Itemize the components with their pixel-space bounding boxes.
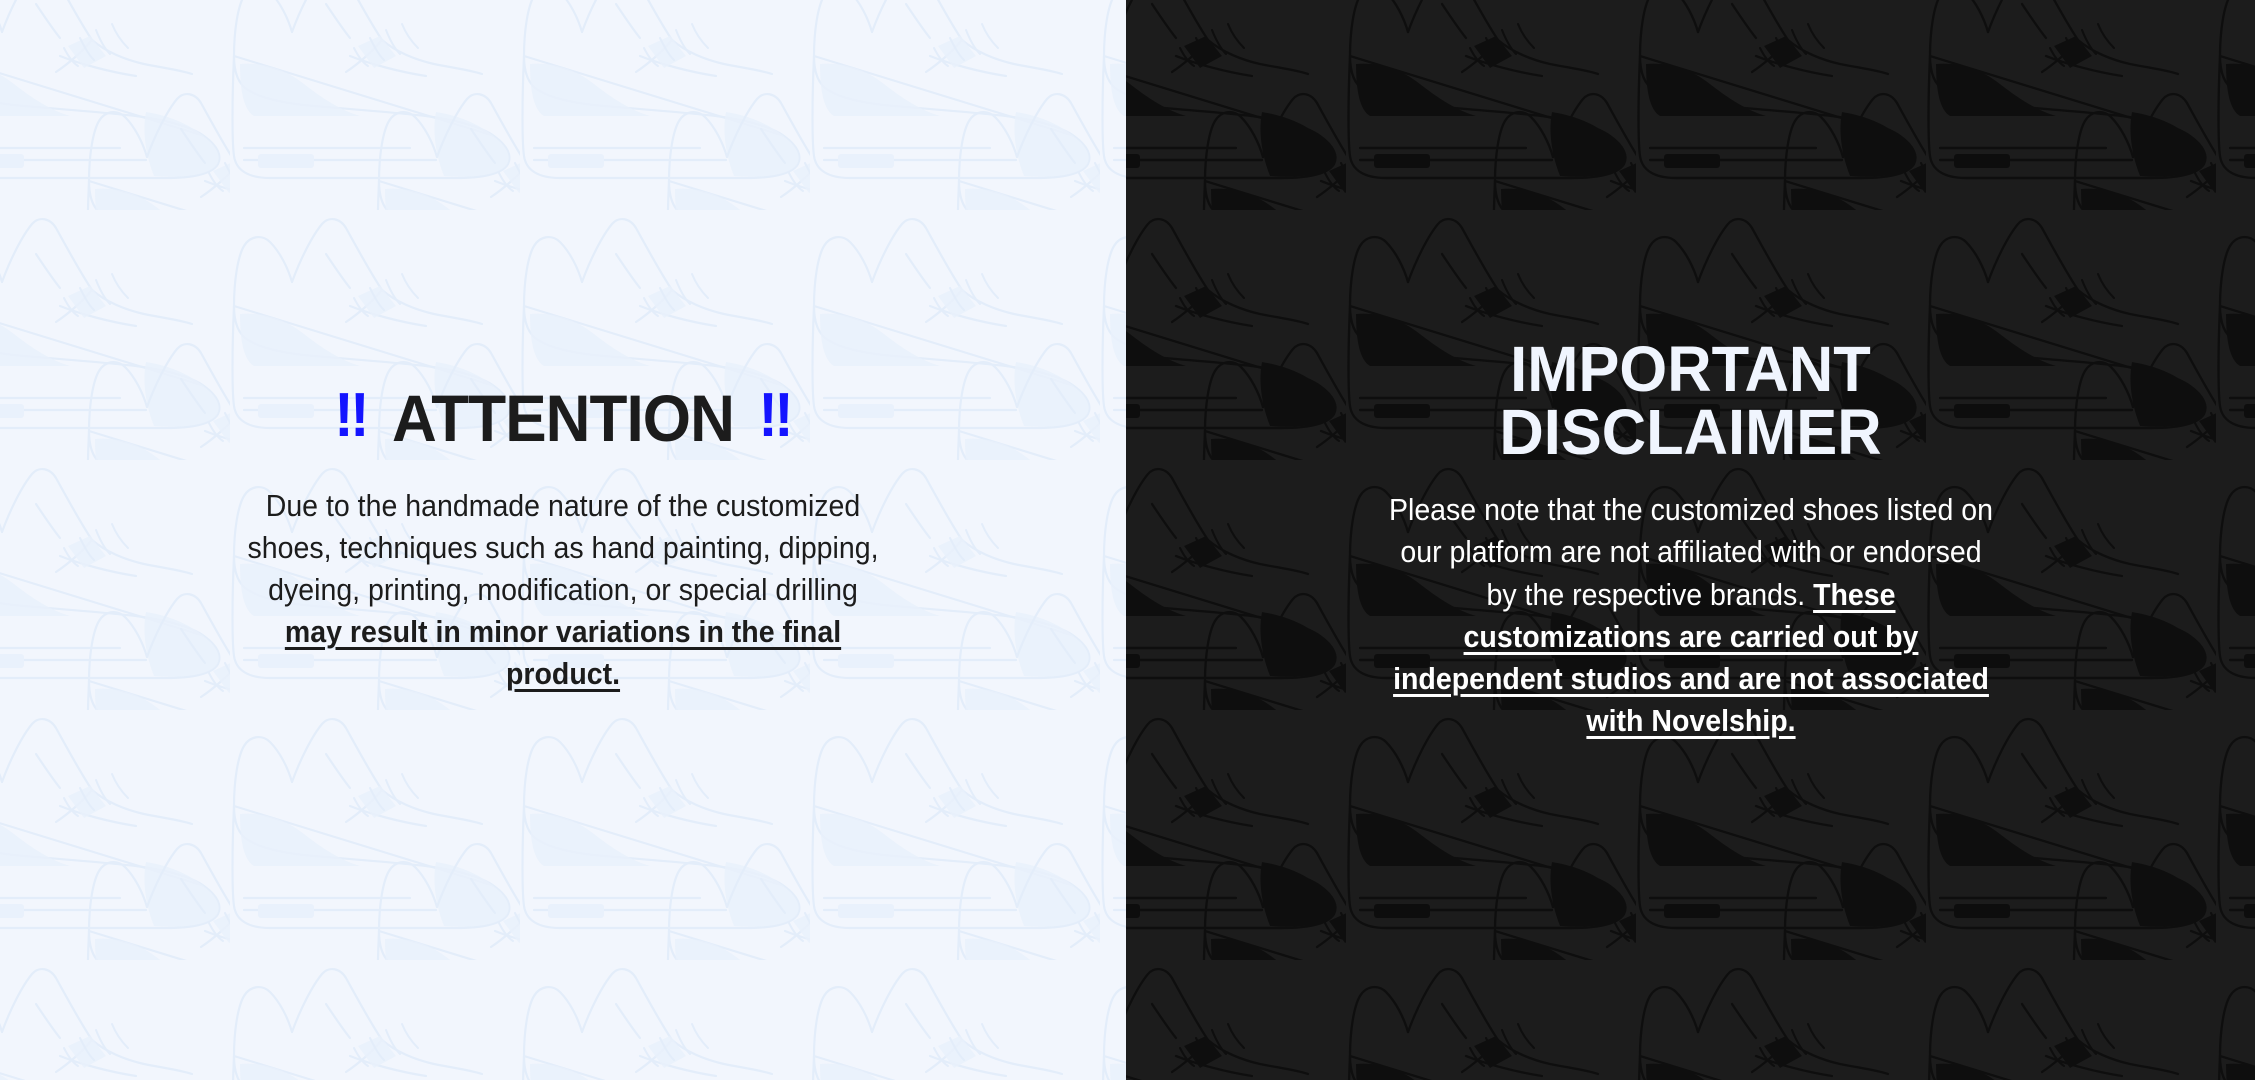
disclaimer-heading-line1: IMPORTANT xyxy=(1187,338,2194,401)
disclaimer-body-normal: Please note that the customized shoes li… xyxy=(1388,492,1992,611)
disclaimer-heading: IMPORTANT DISCLAIMER xyxy=(1187,338,2194,463)
disclaimer-body: Please note that the customized shoes li… xyxy=(1387,489,1994,742)
disclaimer-panel: IMPORTANT DISCLAIMER Please note that th… xyxy=(1126,0,2255,1080)
attention-body: Due to the handmade nature of the custom… xyxy=(241,485,885,696)
disclaimer-heading-line2: DISCLAIMER xyxy=(1187,401,2194,464)
attention-body-emphasis: may result in minor variations in the fi… xyxy=(285,614,841,691)
split-banner: ‼ ATTENTION ‼ Due to the handmade nature… xyxy=(0,0,2255,1080)
attention-heading: ‼ ATTENTION ‼ xyxy=(71,385,1054,451)
attention-heading-text: ATTENTION xyxy=(392,385,734,451)
attention-body-normal: Due to the handmade nature of the custom… xyxy=(247,488,878,607)
double-exclamation-icon-left: ‼ xyxy=(334,385,367,447)
disclaimer-content: IMPORTANT DISCLAIMER Please note that th… xyxy=(1126,338,2255,742)
double-exclamation-icon-right: ‼ xyxy=(758,385,791,447)
attention-panel: ‼ ATTENTION ‼ Due to the handmade nature… xyxy=(0,0,1126,1080)
attention-content: ‼ ATTENTION ‼ Due to the handmade nature… xyxy=(0,385,1126,696)
